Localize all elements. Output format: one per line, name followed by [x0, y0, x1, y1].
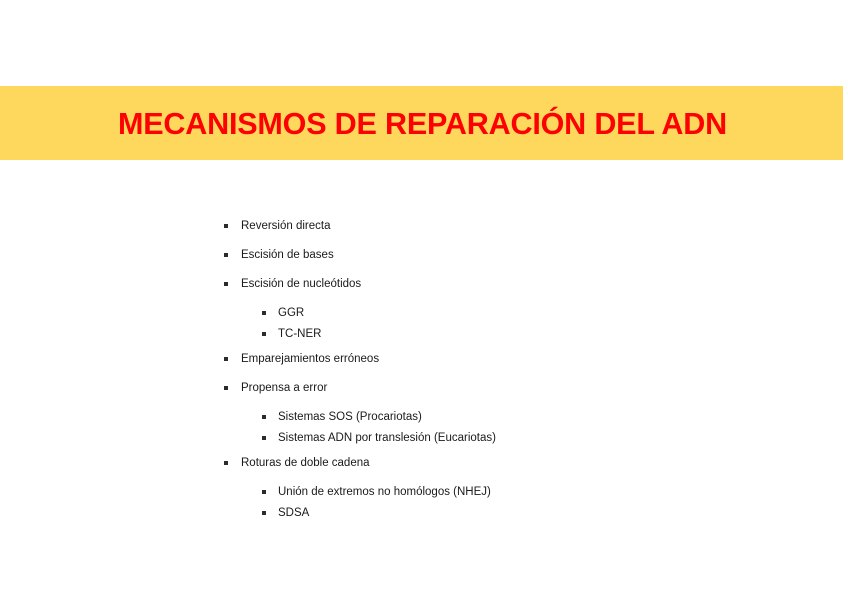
square-bullet-icon — [224, 224, 228, 228]
list-item: Propensa a error — [0, 380, 848, 409]
list-item: Reversión directa — [0, 218, 848, 247]
list-item-label: Sistemas ADN por translesión (Eucariotas… — [278, 430, 848, 445]
square-bullet-icon — [262, 490, 266, 494]
list-item: Escisión de nucleótidos — [0, 276, 848, 305]
outline-list: Reversión directa Escisión de bases Esci… — [0, 218, 848, 523]
list-item-label: Sistemas SOS (Procariotas) — [278, 409, 848, 424]
page-title: MECANISMOS DE REPARACIÓN DEL ADN — [118, 108, 727, 139]
list-item-label: SDSA — [278, 505, 848, 520]
list-item: Sistemas ADN por translesión (Eucariotas… — [0, 430, 848, 448]
square-bullet-icon — [224, 357, 228, 361]
list-item-label: Roturas de doble cadena — [241, 455, 848, 470]
list-item-label: TC-NER — [278, 326, 848, 341]
list-item: SDSA — [0, 505, 848, 523]
list-item: Emparejamientos erróneos — [0, 351, 848, 380]
square-bullet-icon — [262, 436, 266, 440]
list-item-label: Reversión directa — [241, 218, 848, 233]
list-item: Roturas de doble cadena — [0, 455, 848, 484]
list-item-label: Propensa a error — [241, 380, 848, 395]
square-bullet-icon — [262, 511, 266, 515]
square-bullet-icon — [224, 282, 228, 286]
square-bullet-icon — [224, 253, 228, 257]
title-banner: MECANISMOS DE REPARACIÓN DEL ADN — [0, 86, 843, 160]
square-bullet-icon — [224, 386, 228, 390]
list-item: Escisión de bases — [0, 247, 848, 276]
list-item-label: Escisión de nucleótidos — [241, 276, 848, 291]
list-item-label: Unión de extremos no homólogos (NHEJ) — [278, 484, 848, 499]
list-item-label: Escisión de bases — [241, 247, 848, 262]
list-item: GGR — [0, 305, 848, 326]
square-bullet-icon — [224, 461, 228, 465]
list-item: Sistemas SOS (Procariotas) — [0, 409, 848, 430]
list-item: TC-NER — [0, 326, 848, 344]
square-bullet-icon — [262, 311, 266, 315]
list-item: Unión de extremos no homólogos (NHEJ) — [0, 484, 848, 505]
square-bullet-icon — [262, 332, 266, 336]
list-item-label: Emparejamientos erróneos — [241, 351, 848, 366]
square-bullet-icon — [262, 415, 266, 419]
list-item-label: GGR — [278, 305, 848, 320]
